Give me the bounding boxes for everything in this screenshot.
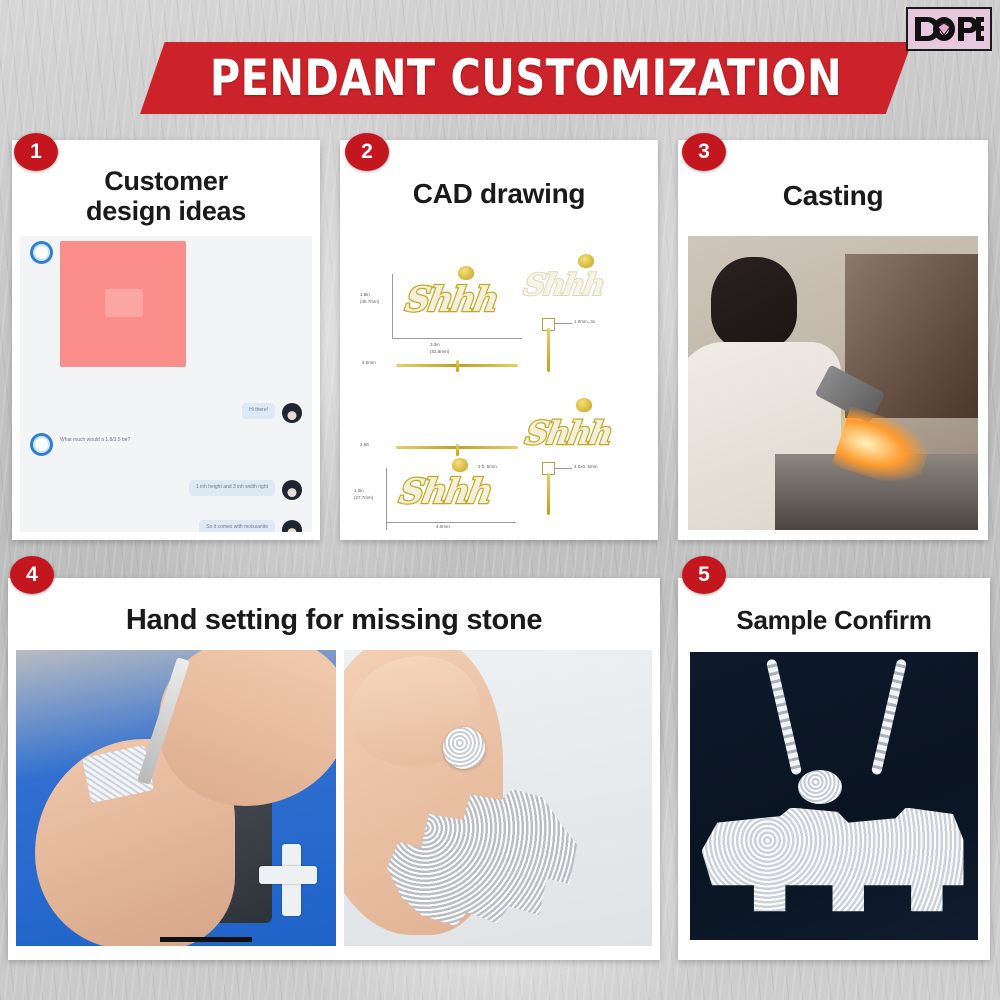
hand-setting-photo-left xyxy=(16,650,336,946)
dope-brand-logo xyxy=(906,7,992,51)
cad-rod xyxy=(456,360,459,372)
chat-bubble-text: 1 inh height and 3 inh width right xyxy=(189,480,275,496)
cad-dim-label: 1.8in (45.7mm) xyxy=(360,292,379,305)
dope-logo-icon xyxy=(914,16,984,42)
contact-avatar-icon xyxy=(30,433,53,456)
cad-dim-line xyxy=(392,274,393,338)
cad-dim-line xyxy=(554,468,572,469)
cad-dim-label: 3 ft, 5mm xyxy=(478,464,497,471)
sample-confirm-photo xyxy=(690,652,978,940)
cad-dim-line xyxy=(386,522,516,523)
user-avatar-icon xyxy=(282,520,302,532)
cad-rod xyxy=(547,328,550,372)
cad-dim-label: 3.3in (83.8mm) xyxy=(430,342,449,355)
step-card-2: CAD drawing Shhh 1.8in (45.7mm) 3.3in (8… xyxy=(340,140,658,540)
step-card-3: Casting xyxy=(678,140,988,540)
hand-setting-photo-right xyxy=(344,650,652,946)
tennis-chain-right xyxy=(871,658,907,775)
progress-bar-overlay xyxy=(160,937,252,942)
chat-message-2: What much would a 1.8/3.5 be? xyxy=(20,428,312,461)
iced-bail xyxy=(798,770,842,804)
chat-message-4: So it comes with moissanite xyxy=(20,515,312,532)
worker-head xyxy=(711,257,797,349)
step-badge-5: 5 xyxy=(682,556,726,594)
cross-pendant xyxy=(259,844,317,916)
cad-pendant-word: Shhh xyxy=(523,414,615,452)
cad-pendant-word: Shhh xyxy=(402,280,500,320)
user-avatar-icon xyxy=(282,403,302,423)
step-badge-3: 3 xyxy=(682,133,726,171)
casting-photo xyxy=(688,236,978,530)
step-card-4: Hand setting for missing stone xyxy=(8,578,660,960)
chat-message-image xyxy=(20,236,312,372)
cad-dim-label: 2.50 xyxy=(360,442,369,449)
step-card-1: Customer design ideas Hi there! What muc… xyxy=(12,140,320,540)
cad-dim-label: 4.0mm xyxy=(362,360,376,367)
design-image-attachment xyxy=(60,241,186,367)
cad-bail-icon xyxy=(578,254,594,268)
tennis-chain-left xyxy=(766,658,802,775)
cad-dim-label: 1.0in (27.7mm) xyxy=(354,488,373,501)
cad-drawing: Shhh 1.8in (45.7mm) 3.3in (83.8mm) 4.0mm… xyxy=(348,232,650,532)
step-badge-1: 1 xyxy=(14,133,58,171)
cross-horizontal-bar xyxy=(259,866,317,884)
chat-message-3: 1 inh height and 3 inh width right xyxy=(20,475,312,505)
step-card-5: Sample Confirm xyxy=(678,578,990,960)
chat-screenshot: Hi there! What much would a 1.8/3.5 be? … xyxy=(20,236,312,532)
cad-dim-line xyxy=(554,323,572,324)
contact-avatar-icon xyxy=(30,241,53,264)
step-title-1-line2: design ideas xyxy=(12,196,320,226)
iced-bail-ball xyxy=(443,727,485,769)
cad-bail-icon xyxy=(458,266,474,280)
user-avatar-icon xyxy=(282,480,302,500)
cad-rod xyxy=(456,444,459,456)
cad-dim-line xyxy=(392,338,522,339)
step-badge-2: 2 xyxy=(345,133,389,171)
banner-ribbon: PENDANT CUSTOMIZATION xyxy=(140,42,912,114)
cad-bail-icon xyxy=(576,398,592,412)
cad-dim-line xyxy=(386,468,387,530)
chat-bubble-text: Hi there! xyxy=(242,403,275,419)
chat-bubble-text: What much would a 1.8/3.5 be? xyxy=(60,433,137,449)
cad-dim-label: 4.0mm xyxy=(436,524,450,531)
step-badge-4: 4 xyxy=(10,556,54,594)
chat-bubble-text: So it comes with moissanite xyxy=(199,520,275,532)
cad-dim-label: 4.0x0, 5mm xyxy=(574,464,598,471)
step-title-4: Hand setting for missing stone xyxy=(8,578,660,636)
step-title-1-line1: Customer xyxy=(12,166,320,196)
step-title-1: Customer design ideas xyxy=(12,140,320,226)
cad-rod xyxy=(547,473,550,515)
cad-dim-label: 1.0mm, 3x xyxy=(574,319,595,326)
cad-pendant-word: Shhh xyxy=(521,268,606,303)
finished-shhh-pendant xyxy=(702,808,964,916)
header-banner: PENDANT CUSTOMIZATION xyxy=(0,0,1000,130)
cad-bail-icon xyxy=(452,458,468,472)
chat-message-1: Hi there! xyxy=(20,398,312,428)
page-title: PENDANT CUSTOMIZATION xyxy=(171,42,881,114)
step-title-5: Sample Confirm xyxy=(678,578,990,635)
cad-pendant-word: Shhh xyxy=(396,472,494,512)
